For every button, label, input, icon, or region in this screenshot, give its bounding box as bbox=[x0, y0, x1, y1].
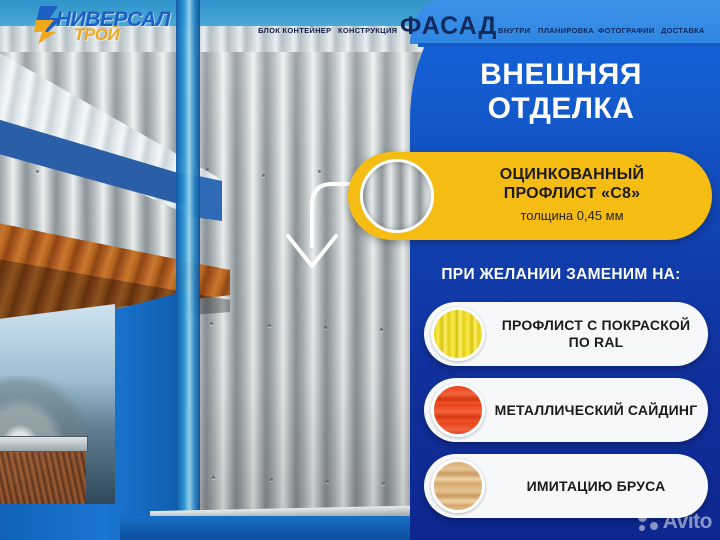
window-louvre bbox=[0, 448, 86, 504]
site-header: НИВЕРСАЛ ТРОЙ БЛОК КОНТЕЙНЕР КОНСТРУКЦИЯ… bbox=[0, 0, 720, 46]
nav-item-konstruktsiya[interactable]: КОНСТРУКЦИЯ bbox=[338, 26, 397, 35]
avito-watermark: Avito bbox=[638, 510, 712, 534]
badge-line1: ОЦИНКОВАННЫЙ bbox=[444, 166, 700, 184]
avito-watermark-text: Avito bbox=[663, 510, 712, 534]
badge-thickness: толщина 0,45 мм bbox=[444, 208, 700, 223]
nav-item-fotografii[interactable]: ФОТОГРАФИИ bbox=[598, 26, 654, 35]
window-glass bbox=[0, 304, 115, 504]
badge-material-preview-icon bbox=[360, 159, 434, 233]
nav-item-vnutri[interactable]: ВНУТРИ bbox=[498, 26, 530, 35]
main-nav: БЛОК КОНТЕЙНЕР КОНСТРУКЦИЯ ФАСАД ВНУТРИ … bbox=[0, 0, 720, 46]
wood-imitation-swatch-icon bbox=[431, 459, 485, 513]
option-item-siding[interactable]: МЕТАЛЛИЧЕСКИЙ САЙДИНГ bbox=[424, 378, 708, 442]
corner-trim-strip bbox=[176, 0, 200, 540]
avito-logo-icon bbox=[638, 511, 660, 533]
product-photo bbox=[0, 0, 440, 540]
window-frame bbox=[0, 436, 88, 452]
base-blue-band bbox=[120, 516, 440, 540]
option-label-ral: ПРОФЛИСТ С ПОКРАСКОЙ ПО RAL bbox=[490, 302, 702, 366]
nav-item-blok-konteyner[interactable]: БЛОК КОНТЕЙНЕР bbox=[258, 26, 331, 35]
material-badge: ОЦИНКОВАННЫЙ ПРОФЛИСТ «С8» толщина 0,45 … bbox=[348, 152, 712, 240]
page-title: ВНЕШНЯЯ ОТДЕЛКА bbox=[418, 58, 704, 126]
page-title-line1: ВНЕШНЯЯ bbox=[418, 58, 704, 92]
option-label-wood: ИМИТАЦИЮ БРУСА bbox=[490, 454, 702, 518]
nav-item-fasad-active[interactable]: ФАСАД bbox=[400, 12, 497, 41]
option-item-ral[interactable]: ПРОФЛИСТ С ПОКРАСКОЙ ПО RAL bbox=[424, 302, 708, 366]
page-title-line2: ОТДЕЛКА bbox=[418, 92, 704, 126]
option-label-siding: МЕТАЛЛИЧЕСКИЙ САЙДИНГ bbox=[490, 378, 702, 442]
badge-line2: ПРОФЛИСТ «С8» bbox=[444, 185, 700, 203]
nav-item-dostavka[interactable]: ДОСТАВКА bbox=[661, 26, 705, 35]
promo-banner: НИВЕРСАЛ ТРОЙ БЛОК КОНТЕЙНЕР КОНСТРУКЦИЯ… bbox=[0, 0, 720, 540]
nav-item-planirovka[interactable]: ПЛАНИРОВКА bbox=[538, 26, 594, 35]
header-underline bbox=[418, 43, 720, 47]
options-heading: ПРИ ЖЕЛАНИИ ЗАМЕНИМ НА: bbox=[416, 266, 706, 284]
option-item-wood[interactable]: ИМИТАЦИЮ БРУСА bbox=[424, 454, 708, 518]
painted-profile-sheet-swatch-icon bbox=[431, 307, 485, 361]
metal-siding-swatch-icon bbox=[431, 383, 485, 437]
